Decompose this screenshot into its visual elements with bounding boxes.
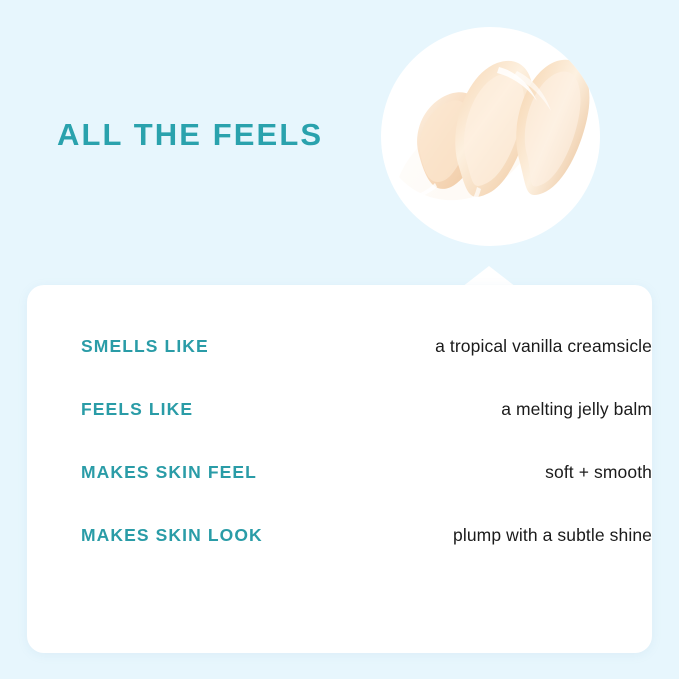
spec-row: MAKES SKIN LOOK plump with a subtle shin… (81, 514, 652, 556)
row-spacer (81, 367, 652, 388)
row-spacer (81, 493, 652, 514)
cream-swatch-image (381, 27, 600, 246)
spec-label: MAKES SKIN FEEL (81, 462, 257, 483)
product-image-circle (381, 27, 600, 246)
spec-label: FEELS LIKE (81, 399, 193, 420)
spec-label: MAKES SKIN LOOK (81, 525, 263, 546)
spec-label: SMELLS LIKE (81, 336, 209, 357)
spec-row: FEELS LIKE a melting jelly balm (81, 388, 652, 430)
product-feels-panel: ALL THE FEELS (0, 0, 679, 679)
spec-value: a melting jelly balm (501, 399, 652, 420)
page-title: ALL THE FEELS (57, 118, 323, 152)
row-spacer (81, 430, 652, 451)
spec-value: a tropical vanilla creamsicle (435, 336, 652, 357)
specs-list: SMELLS LIKE a tropical vanilla creamsicl… (81, 325, 652, 556)
spec-value: soft + smooth (545, 462, 652, 483)
specs-card: SMELLS LIKE a tropical vanilla creamsicl… (27, 285, 652, 653)
spec-value: plump with a subtle shine (453, 525, 652, 546)
spec-row: MAKES SKIN FEEL soft + smooth (81, 451, 652, 493)
spec-row: SMELLS LIKE a tropical vanilla creamsicl… (81, 325, 652, 367)
card-pointer-triangle (462, 266, 516, 287)
